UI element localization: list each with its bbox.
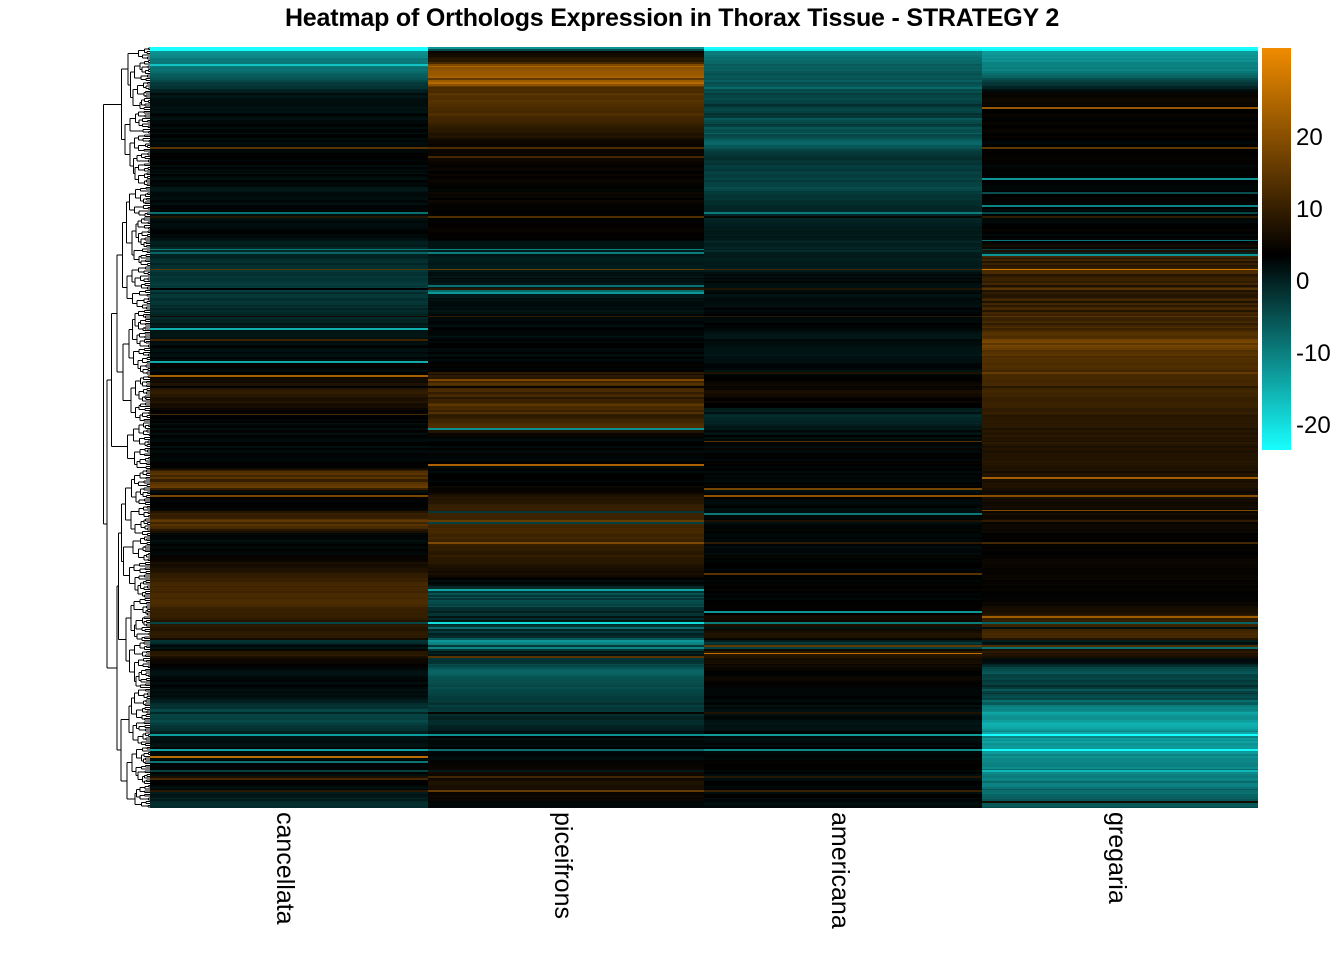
- colorbar-tick: 0: [1296, 270, 1309, 294]
- colorbar-tick-labels: 20 10 0 -10 -20: [1296, 48, 1344, 450]
- column-label-row: cancellata piceifrons americana gregaria: [150, 812, 1258, 960]
- column-label-text: americana: [827, 812, 852, 929]
- row-dendrogram: [0, 47, 150, 808]
- colorbar-tick: -10: [1296, 342, 1331, 366]
- column-label-text: gregaria: [1104, 812, 1129, 904]
- column-label-text: cancellata: [272, 812, 297, 925]
- colorbar-tick: 10: [1296, 198, 1323, 222]
- dendrogram-svg: [0, 47, 150, 808]
- heatmap-figure: Heatmap of Orthologs Expression in Thora…: [0, 0, 1344, 960]
- colorbar-gradient: [1262, 48, 1291, 450]
- column-label-text: piceifrons: [550, 812, 575, 919]
- heatmap-grid: [150, 47, 1258, 808]
- colorbar-tick: 20: [1296, 126, 1323, 150]
- heatmap-canvas: [150, 47, 1258, 808]
- page-title: Heatmap of Orthologs Expression in Thora…: [0, 4, 1344, 33]
- colorbar-tick: -20: [1296, 414, 1331, 438]
- colorbar: 20 10 0 -10 -20: [1262, 48, 1344, 458]
